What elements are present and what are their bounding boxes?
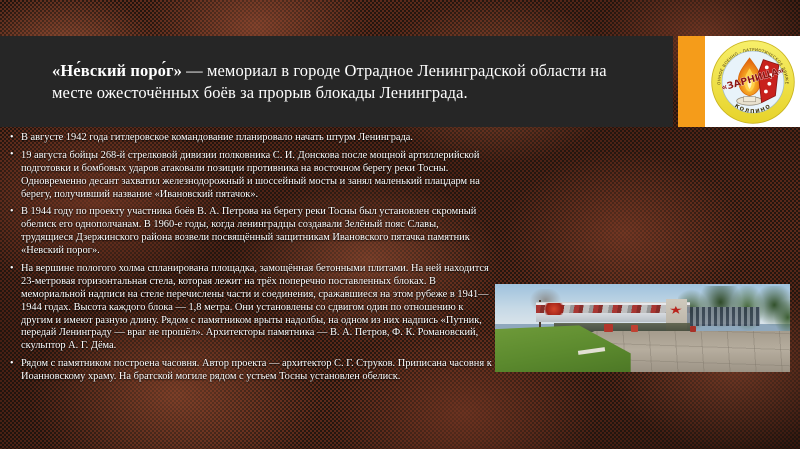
zarnitsa-emblem: «ЗАРНИЦА» РАЙОННОЕ ВОЕННО - ПАТРИОТИЧЕСК…	[710, 39, 796, 125]
slide-title-lead: «Не́вский поро́г»	[52, 61, 182, 80]
emblem-plate: «ЗАРНИЦА» РАЙОННОЕ ВОЕННО - ПАТРИОТИЧЕСК…	[705, 36, 800, 127]
list-item: В 1944 году по проекту участника боёв В.…	[8, 206, 492, 258]
photo-wreath	[631, 325, 638, 331]
emblem-icon: «ЗАРНИЦА» РАЙОННОЕ ВОЕННО - ПАТРИОТИЧЕСК…	[710, 39, 796, 125]
photo-banner-emblem	[541, 303, 568, 314]
list-item: Рядом с памятником построена часовня. Ав…	[8, 358, 492, 384]
slide-bullet-list: В августе 1942 года гитлеровское командо…	[8, 132, 492, 389]
presentation-slide: «Не́вский поро́г» — мемориал в городе От…	[0, 0, 800, 449]
slide-title: «Не́вский поро́г» — мемориал в городе От…	[52, 60, 645, 104]
list-item: На вершине пологого холма спланирована п…	[8, 263, 492, 353]
list-item: В августе 1942 года гитлеровское командо…	[8, 132, 492, 145]
emblem-box: «ЗАРНИЦА» РАЙОННОЕ ВОЕННО - ПАТРИОТИЧЕСК…	[678, 36, 800, 127]
memorial-photo	[495, 284, 790, 372]
photo-colonnade	[684, 307, 761, 326]
slide-title-block: «Не́вский поро́г» — мемориал в городе От…	[0, 36, 673, 127]
list-item: 19 августа бойцы 268-й стрелковой дивизи…	[8, 150, 492, 202]
photo-wreath	[690, 326, 696, 331]
photo-wreath	[604, 324, 613, 332]
